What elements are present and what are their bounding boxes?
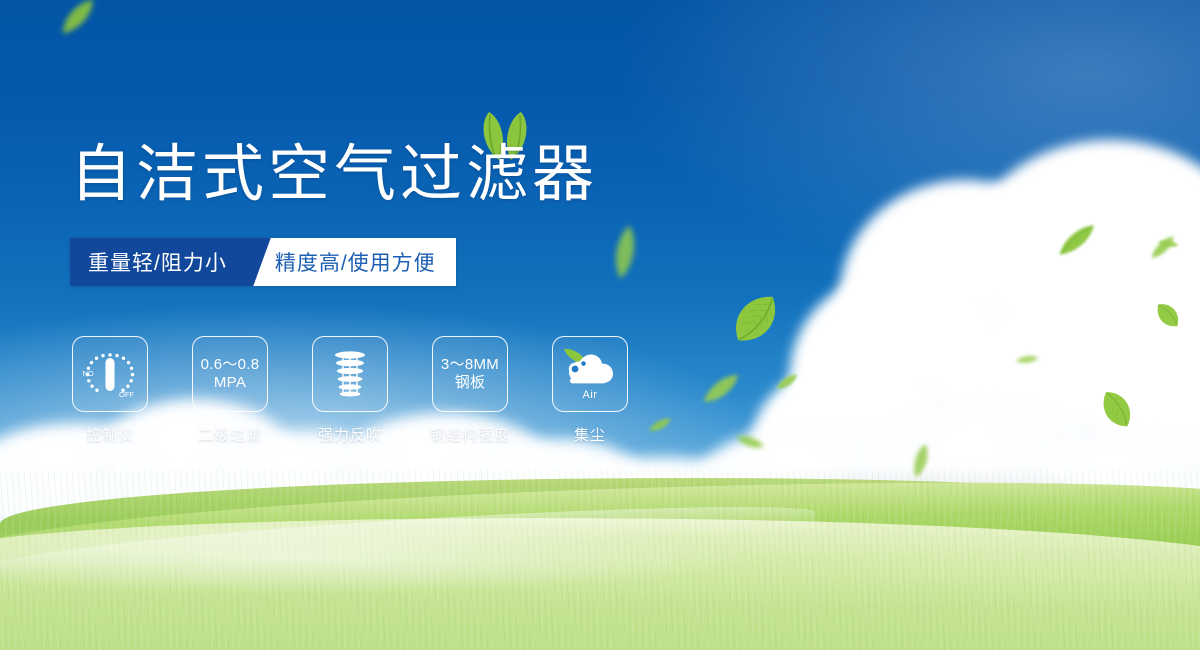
feature-label: 钢结构强度 xyxy=(430,424,510,445)
feature-item-pulse-blowback[interactable]: 强力反吹 xyxy=(312,336,388,445)
feature-item-two-stage-filter[interactable]: 0.6〜0.8 MPA 二级过滤 xyxy=(192,336,268,445)
feature-item-dust-collection[interactable]: Air 集尘 xyxy=(552,336,628,445)
feature-icon-box: 3〜8MM 钢板 xyxy=(432,336,508,412)
tagline-left-text: 重量轻/阻力小 xyxy=(70,238,249,286)
air-cloud-icon: Air xyxy=(561,349,619,399)
dial-min-label: NO xyxy=(83,369,94,378)
product-banner: 自洁式空气过滤器 重量轻/阻力小 精度高/使用方便 xyxy=(0,0,1200,650)
feature-list: NO OFF 控制仪 0.6〜0.8 MPA 二级过滤 xyxy=(72,336,628,445)
tagline-badge: 重量轻/阻力小 精度高/使用方便 xyxy=(70,238,456,286)
feature-item-steel-strength[interactable]: 3〜8MM 钢板 钢结构强度 xyxy=(432,336,508,445)
feature-label: 强力反吹 xyxy=(318,424,382,445)
feature-item-control-dial[interactable]: NO OFF 控制仪 xyxy=(72,336,148,445)
dial-max-label: OFF xyxy=(119,390,134,399)
feature-icon-box xyxy=(312,336,388,412)
feature-icon-text-line2: 钢板 xyxy=(441,374,499,392)
feature-label: 控制仪 xyxy=(86,424,134,445)
tagline-right-text: 精度高/使用方便 xyxy=(249,238,456,286)
feature-icon-text-line2: MPA xyxy=(201,374,260,392)
banner-content: 自洁式空气过滤器 重量轻/阻力小 精度高/使用方便 xyxy=(0,0,1200,650)
feature-icon-box: Air xyxy=(552,336,628,412)
feature-icon-text-line1: 3〜8MM xyxy=(441,356,499,373)
feature-icon-box: 0.6〜0.8 MPA xyxy=(192,336,268,412)
feature-icon-box: NO OFF xyxy=(72,336,148,412)
feature-icon-text-line1: 0.6〜0.8 xyxy=(201,356,260,373)
feature-label: 集尘 xyxy=(574,424,606,445)
filter-coil-icon xyxy=(327,348,373,400)
dial-gauge-icon: NO OFF xyxy=(81,347,139,401)
air-label: Air xyxy=(561,389,619,401)
page-title: 自洁式空气过滤器 xyxy=(70,144,598,206)
feature-label: 二级过滤 xyxy=(198,424,262,445)
